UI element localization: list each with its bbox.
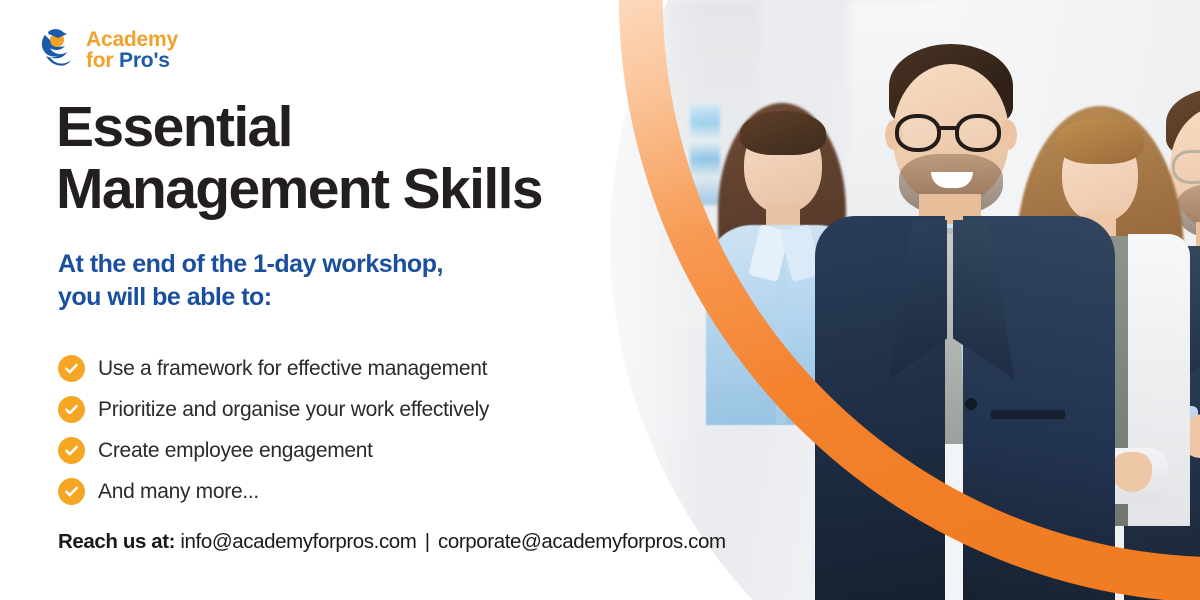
check-circle-icon (58, 437, 85, 464)
check-circle-icon (58, 478, 85, 505)
subheading-line-1: At the end of the 1-day workshop, (58, 248, 628, 281)
shirt-placket (776, 255, 786, 425)
subheading: At the end of the 1-day workshop, you wi… (58, 248, 628, 315)
promo-banner: Academy for Pro's Essential Management S… (0, 0, 1200, 600)
list-item-label: Create employee engagement (98, 439, 373, 463)
check-circle-icon (58, 396, 85, 423)
jacket-button (965, 398, 977, 410)
list-item: Prioritize and organise your work effect… (58, 389, 658, 430)
contact-footer: Reach us at: info@academyforpros.com | c… (58, 530, 726, 554)
hair-fringe (740, 111, 826, 155)
hand (1112, 452, 1152, 492)
hero-photo (610, 0, 1200, 600)
page-title: Essential Management Skills (56, 97, 626, 220)
contact-label: Reach us at: (58, 530, 175, 553)
list-item-label: And many more... (98, 480, 259, 504)
brand-logo[interactable]: Academy for Pro's (38, 26, 178, 74)
subheading-line-2: you will be able to: (58, 281, 628, 314)
academy-figure-logo-icon (38, 26, 78, 74)
ear-right (999, 120, 1017, 150)
person-man-navy-suit (815, 38, 1115, 600)
headline-line-2: Management Skills (56, 159, 626, 221)
contact-separator: | (422, 530, 433, 553)
eyeglass-bridge (939, 126, 957, 130)
list-item: And many more... (58, 471, 658, 512)
check-circle-icon (58, 355, 85, 382)
brand-wordmark: Academy for Pro's (86, 29, 178, 72)
brand-pros: Pro's (119, 49, 170, 72)
eyeglass-left (895, 114, 941, 152)
content-column: Academy for Pro's Essential Management S… (0, 0, 640, 600)
eyeglass-right (955, 114, 1001, 152)
photo-clip-mask (610, 0, 1200, 600)
list-item-label: Prioritize and organise your work effect… (98, 398, 489, 422)
brand-for: for (86, 49, 119, 72)
jacket-pocket (991, 410, 1065, 419)
list-item: Create employee engagement (58, 430, 658, 471)
email-primary[interactable]: info@academyforpros.com (180, 530, 416, 553)
list-item: Use a framework for effective management (58, 348, 658, 389)
list-item-label: Use a framework for effective management (98, 357, 487, 381)
brand-line-2: for Pro's (86, 50, 178, 71)
brand-line-1: Academy (86, 29, 178, 50)
headline-line-1: Essential (56, 97, 626, 159)
benefits-list: Use a framework for effective management… (58, 348, 658, 512)
email-secondary[interactable]: corporate@academyforpros.com (438, 530, 726, 553)
